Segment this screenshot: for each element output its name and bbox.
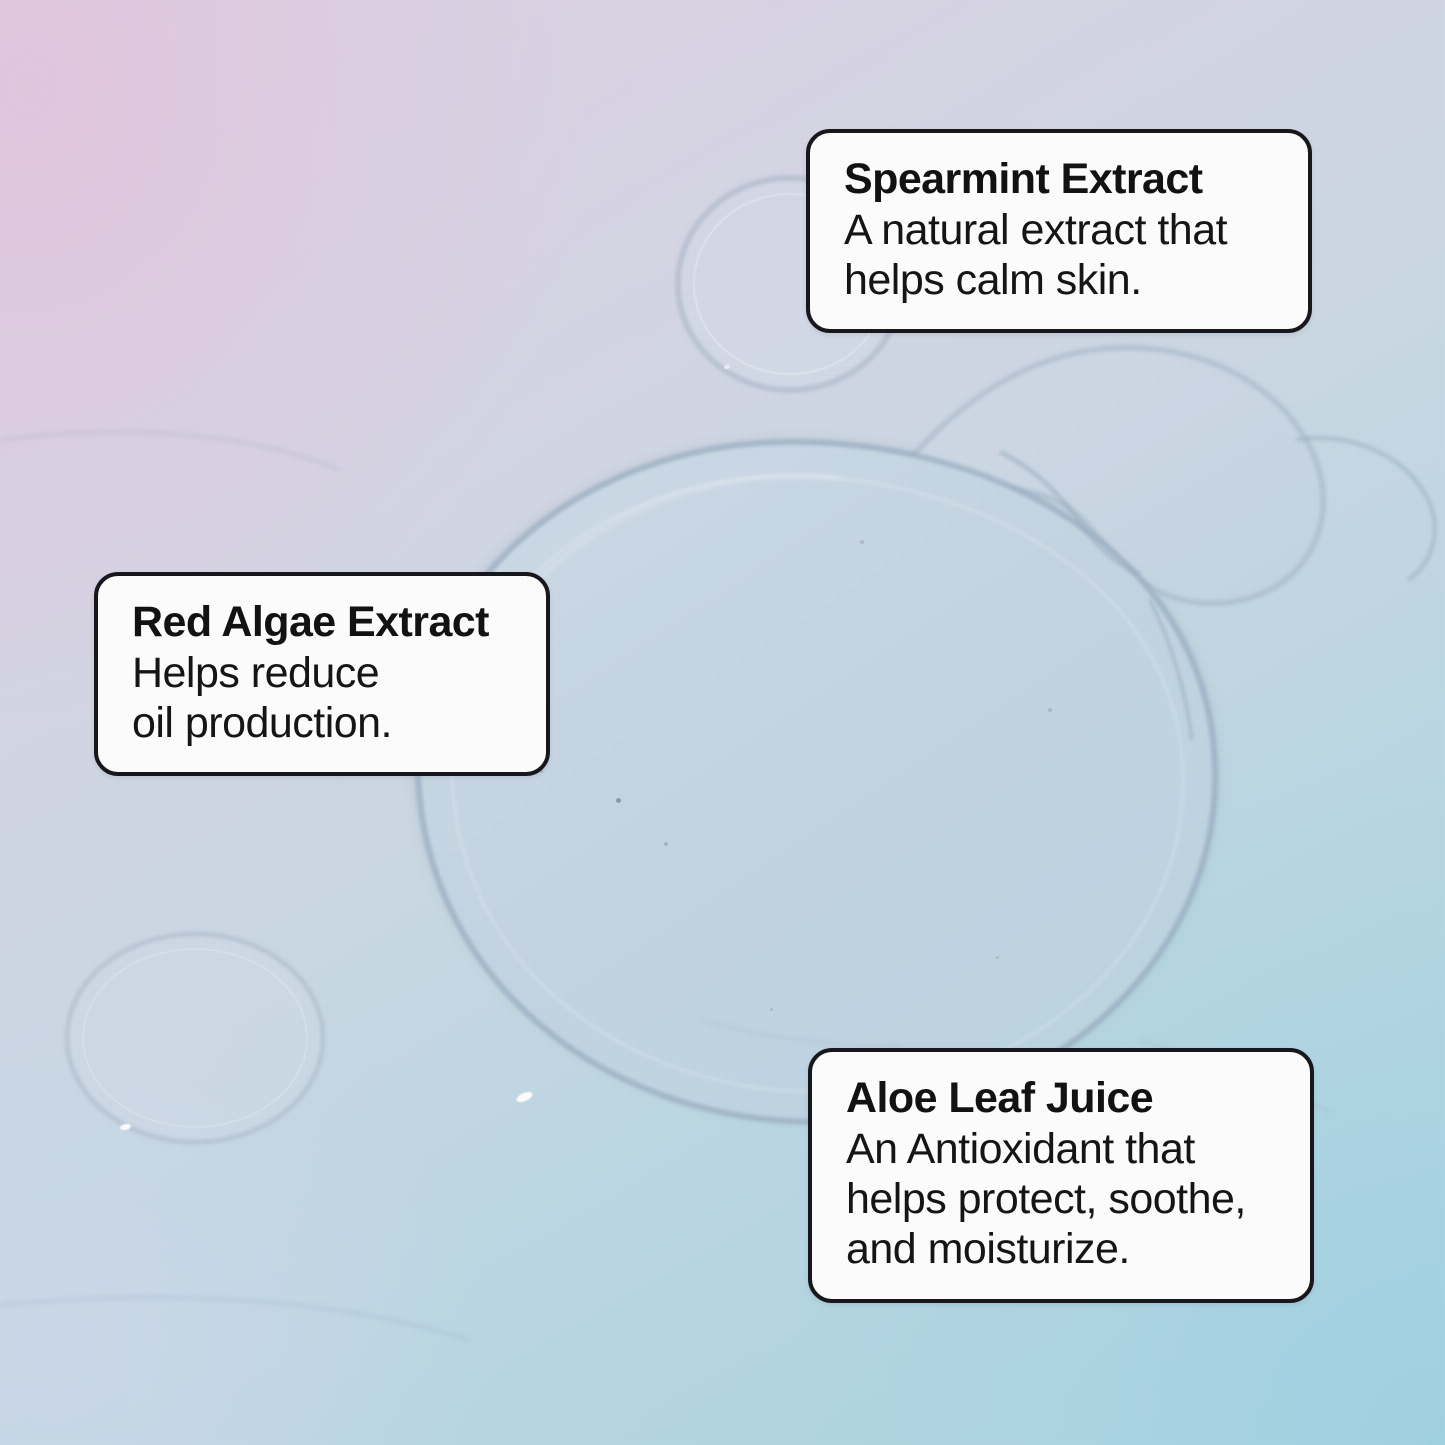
infographic-canvas: Spearmint Extract A natural extract that… [0,0,1445,1445]
film-grain-overlay [0,0,1445,1445]
